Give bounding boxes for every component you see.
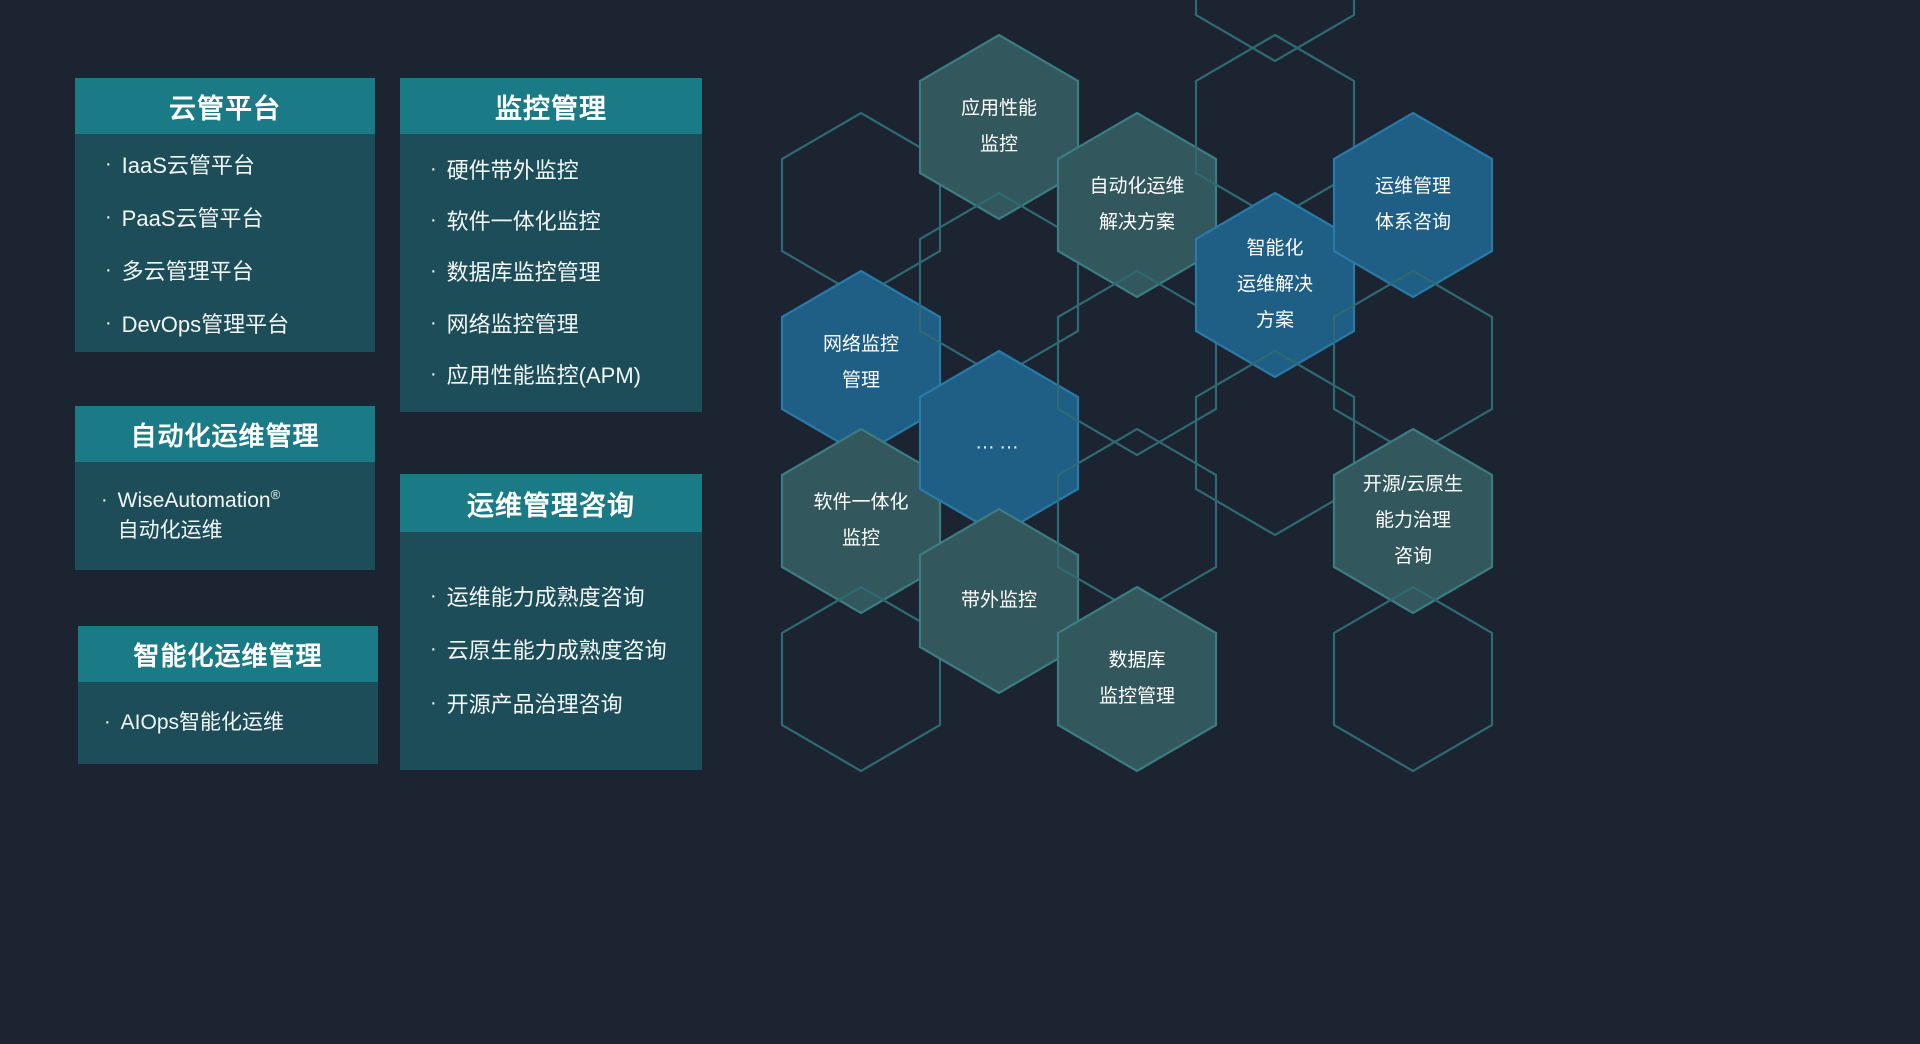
card-title-cloud-platform: 云管平台 (75, 78, 375, 134)
hexagon-label: 智能化 (1246, 237, 1303, 259)
hexagon-label: 带外监控 (961, 589, 1037, 611)
hexagon-label: 自动化运维 (1089, 175, 1184, 197)
hex-c4-r1 (1196, 35, 1354, 219)
hexagon-shape (782, 429, 940, 613)
hexagon-label: 运维管理 (1375, 175, 1451, 197)
list-item: · 运维能力成熟度咨询 (430, 582, 684, 613)
hexagon-shape (920, 193, 1078, 377)
hex-c4-r3 (1196, 351, 1354, 535)
list-item: · 应用性能监控(APM) (430, 360, 684, 391)
hexagon-label: 应用性能 (961, 97, 1037, 119)
list-item-label: 网络监控管理 (447, 309, 684, 340)
list-item-label: 软件一体化监控 (447, 206, 684, 237)
list-item: · 网络监控管理 (430, 309, 684, 340)
hexagon-label: …… (975, 431, 1023, 453)
hexagon-shape (782, 271, 940, 455)
hexagon-shape (1058, 271, 1216, 455)
hex-opensource-cloudnative-consulting[interactable]: 开源/云原生能力治理咨询 (1334, 429, 1492, 613)
card-automation-ops: 自动化运维管理 · WiseAutomation® 自动化运维 (75, 406, 375, 570)
hexagon-shape (1334, 271, 1492, 455)
card-aiops: 智能化运维管理 · AIOps智能化运维 (78, 626, 378, 764)
hexagon-shape (1196, 35, 1354, 219)
hexagon-label: 监控 (980, 133, 1018, 155)
bullet-icon: · (430, 206, 437, 234)
hex-network-monitoring[interactable]: 网络监控管理 (782, 271, 940, 455)
hex-ellipsis[interactable]: …… (920, 351, 1078, 535)
card-cloud-platform: 云管平台 · IaaS云管平台 · PaaS云管平台 · 多云管理平台 · De… (75, 78, 375, 352)
bullet-icon: · (105, 150, 112, 178)
list-item-label: DevOps管理平台 (122, 309, 349, 340)
brand-name: WiseAutomation (118, 489, 271, 512)
list-item-label: 云原生能力成熟度咨询 (447, 635, 684, 666)
hexagon-shape (1058, 587, 1216, 771)
list-item: · 软件一体化监控 (430, 206, 684, 237)
card-body-cloud-platform: · IaaS云管平台 · PaaS云管平台 · 多云管理平台 · DevOps管… (75, 134, 375, 352)
hex-c4-r0 (1196, 0, 1354, 61)
list-item: · 云原生能力成熟度咨询 (430, 635, 684, 666)
hexagon-shape (1334, 113, 1492, 297)
hexagon-shape (920, 35, 1078, 219)
hexagon-label: 监控 (842, 527, 880, 549)
hex-database-monitoring[interactable]: 数据库监控管理 (1058, 587, 1216, 771)
bullet-icon: · (430, 309, 437, 337)
hex-app-performance-monitoring[interactable]: 应用性能监控 (920, 35, 1078, 219)
hex-aiops-solution[interactable]: 智能化运维解决方案 (1196, 193, 1354, 377)
hex-c3-r3 (1058, 429, 1216, 613)
list-item-label: 应用性能监控(APM) (447, 360, 684, 391)
list-item-label: 硬件带外监控 (447, 155, 684, 186)
hexagon-label: 软件一体化 (813, 491, 908, 513)
hexagon-label: 能力治理 (1375, 509, 1451, 531)
hex-c5-r2 (1334, 271, 1492, 455)
list-item-label-line2: 自动化运维 (118, 519, 223, 542)
bullet-icon: · (104, 708, 111, 736)
hexagon-label: 方案 (1256, 309, 1294, 331)
card-body-aiops: · AIOps智能化运维 (78, 682, 378, 764)
hexagon-label: 网络监控 (823, 333, 899, 355)
hexagon-shape (782, 113, 940, 297)
registered-mark-icon: ® (271, 487, 281, 502)
diagram-canvas: 云管平台 · IaaS云管平台 · PaaS云管平台 · 多云管理平台 · De… (0, 0, 1920, 1044)
list-item: · 数据库监控管理 (430, 257, 684, 288)
bullet-icon: · (430, 635, 437, 663)
list-item-label: PaaS云管平台 (122, 203, 349, 234)
hexagon-label: 运维解决 (1237, 273, 1313, 295)
list-item: · DevOps管理平台 (105, 309, 349, 340)
bullet-icon: · (430, 582, 437, 610)
hexagon-grid-svg: 网络监控管理软件一体化监控应用性能监控……带外监控自动化运维解决方案数据库监控管… (740, 0, 1920, 1044)
hexagon-label: 监控管理 (1099, 685, 1175, 707)
hex-c3-r2 (1058, 271, 1216, 455)
hexagon-grid-panel: 网络监控管理软件一体化监控应用性能监控……带外监控自动化运维解决方案数据库监控管… (740, 0, 1920, 1044)
hexagon-label: 开源/云原生 (1363, 473, 1463, 495)
hexagon-label: 管理 (842, 369, 880, 391)
list-item: · IaaS云管平台 (105, 150, 349, 181)
hex-c5-r4 (1334, 587, 1492, 771)
list-item: · 多云管理平台 (105, 256, 349, 287)
card-body-automation-ops: · WiseAutomation® 自动化运维 (75, 462, 375, 570)
card-title-aiops: 智能化运维管理 (78, 626, 378, 682)
list-item: · AIOps智能化运维 (104, 708, 358, 738)
bullet-icon: · (430, 257, 437, 285)
hexagon-shape (1058, 113, 1216, 297)
hex-ops-management-system-consulting[interactable]: 运维管理体系咨询 (1334, 113, 1492, 297)
bullet-icon: · (430, 155, 437, 183)
list-item: · 硬件带外监控 (430, 155, 684, 186)
card-ops-consulting: 运维管理咨询 · 运维能力成熟度咨询 · 云原生能力成熟度咨询 · 开源产品治理… (400, 474, 702, 770)
hex-c1-r1 (782, 113, 940, 297)
card-title-monitoring: 监控管理 (400, 78, 702, 134)
list-item-label: WiseAutomation® 自动化运维 (118, 486, 355, 546)
card-monitoring: 监控管理 · 硬件带外监控 · 软件一体化监控 · 数据库监控管理 · 网络监控… (400, 78, 702, 412)
bullet-icon: · (105, 256, 112, 284)
hex-c1-r4 (782, 587, 940, 771)
hex-out-of-band-monitoring[interactable]: 带外监控 (920, 509, 1078, 693)
list-item: · WiseAutomation® 自动化运维 (101, 486, 355, 546)
hex-c2-r2 (920, 193, 1078, 377)
card-body-ops-consulting: · 运维能力成熟度咨询 · 云原生能力成熟度咨询 · 开源产品治理咨询 (400, 532, 702, 770)
bullet-icon: · (105, 203, 112, 231)
list-item-label: IaaS云管平台 (122, 150, 349, 181)
card-title-ops-consulting: 运维管理咨询 (400, 474, 702, 532)
hex-automation-ops-solution[interactable]: 自动化运维解决方案 (1058, 113, 1216, 297)
hexagon-label: 数据库 (1108, 649, 1165, 671)
list-item: · PaaS云管平台 (105, 203, 349, 234)
list-item-label: 多云管理平台 (122, 256, 349, 287)
card-body-monitoring: · 硬件带外监控 · 软件一体化监控 · 数据库监控管理 · 网络监控管理 · (400, 134, 702, 412)
hexagon-shape (1196, 0, 1354, 61)
bullet-icon: · (101, 486, 108, 514)
bullet-icon: · (430, 360, 437, 388)
bullet-icon: · (105, 309, 112, 337)
hex-software-integrated-monitoring[interactable]: 软件一体化监控 (782, 429, 940, 613)
hexagon-shape (1058, 429, 1216, 613)
list-item-label: 运维能力成熟度咨询 (447, 582, 684, 613)
list-item: · 开源产品治理咨询 (430, 689, 684, 720)
hexagon-label: 体系咨询 (1375, 211, 1451, 233)
hexagon-shape (782, 587, 940, 771)
hexagon-shape (1334, 587, 1492, 771)
hexagon-label: 解决方案 (1099, 211, 1175, 233)
hexagon-label: 咨询 (1394, 545, 1432, 567)
card-title-automation-ops: 自动化运维管理 (75, 406, 375, 462)
list-item-label: 开源产品治理咨询 (447, 689, 684, 720)
bullet-icon: · (430, 689, 437, 717)
list-item-label: 数据库监控管理 (447, 257, 684, 288)
list-item-label: AIOps智能化运维 (121, 708, 358, 738)
hexagon-shape (1196, 351, 1354, 535)
